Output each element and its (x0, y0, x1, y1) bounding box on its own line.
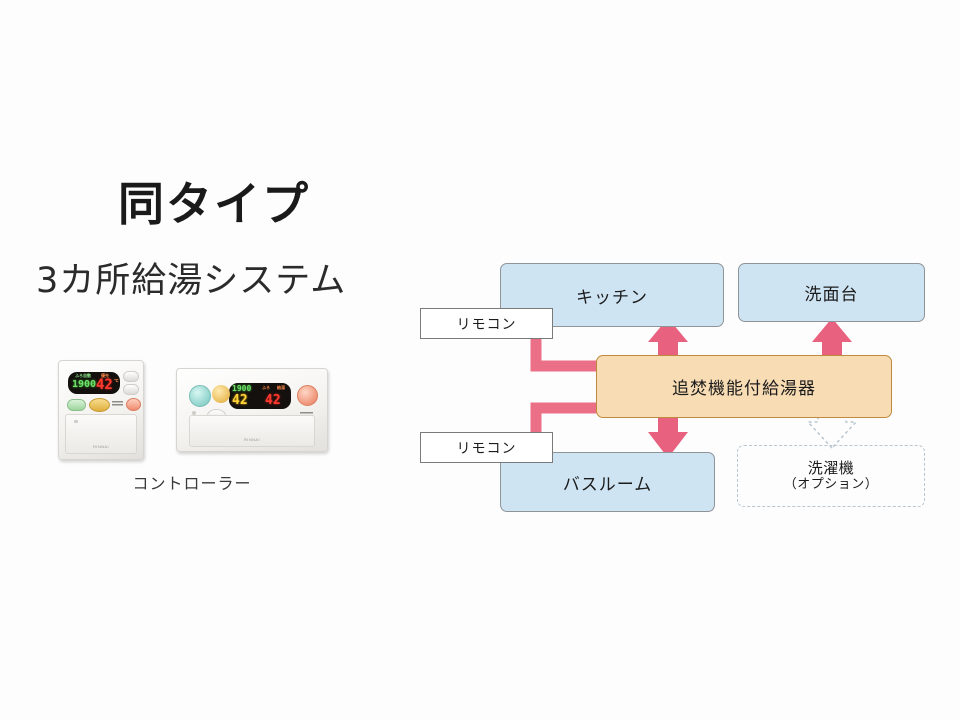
diagram-node-washer-label: 洗濯機 (808, 459, 855, 478)
controller-b-brand: RINNAI (244, 437, 260, 442)
controller-b-hotwater-button (297, 385, 318, 406)
page-subtitle: 3カ所給湯システム (36, 252, 346, 303)
controller-b-label-right: 給湯 (277, 386, 285, 390)
diagram-node-kitchen-label: キッチン (576, 283, 648, 308)
connector-remote-bottom (536, 408, 604, 432)
diagram-node-remote-top-label: リモコン (457, 314, 517, 334)
controller-a-temperature: 42 (96, 378, 113, 392)
controller-b-time: 1900 (232, 385, 251, 393)
diagram-node-remote-bottom-label: リモコン (457, 438, 517, 458)
controller-a-display-mode: ふろ自動 (75, 374, 91, 378)
controller-a-power-button (67, 399, 86, 411)
kitchen-controller-image: 1900 ふろ 給湯 42 42 RINNAI (176, 368, 328, 452)
controller-caption: コントローラー (112, 470, 272, 494)
connector-remote-top (536, 339, 604, 366)
controller-a-led (74, 420, 78, 423)
controller-a-time: 1900 (72, 380, 96, 390)
diagram-node-washer-option[interactable]: 洗濯機 （オプション） (737, 445, 925, 507)
controller-b-power-button (189, 385, 211, 407)
page-title: 同タイプ (118, 168, 310, 234)
controller-a-speaker-grille (112, 401, 123, 407)
controller-b-label-left: ふろ (262, 386, 270, 390)
controller-a-brand: RINNAI (93, 444, 109, 449)
diagram-node-washer-sublabel: （オプション） (784, 477, 879, 493)
diagram-node-remote-top[interactable]: リモコン (420, 308, 553, 339)
controller-b-temperature-right: 42 (265, 394, 281, 407)
controller-b-auto-button (212, 385, 230, 403)
slide-canvas: 同タイプ 3カ所給湯システム ふろ自動 優先 1900 42 ℃ RINNAI … (0, 0, 960, 720)
controller-a-auto-button (89, 398, 110, 412)
diagram-node-washstand[interactable]: 洗面台 (738, 263, 925, 322)
diagram-node-bathroom-label: バスルーム (563, 470, 653, 495)
controller-a-cover: RINNAI (65, 414, 137, 454)
diagram-node-heater-label: 追焚機能付給湯器 (672, 374, 816, 399)
controller-a-down-button (123, 384, 139, 395)
controller-a-display: ふろ自動 優先 1900 42 ℃ (68, 372, 120, 394)
arrow-heater-to-washer (808, 416, 856, 448)
bathroom-controller-image: ふろ自動 優先 1900 42 ℃ RINNAI (58, 360, 144, 460)
controller-a-hotwater-button (126, 398, 141, 411)
controller-b-temperature-left: 42 (232, 394, 248, 407)
controller-a-up-button (123, 371, 139, 382)
diagram-node-heater[interactable]: 追焚機能付給湯器 (596, 355, 892, 418)
diagram-node-washstand-label: 洗面台 (805, 280, 859, 305)
diagram-node-remote-bottom[interactable]: リモコン (420, 432, 553, 463)
controller-b-cover: RINNAI (189, 415, 315, 447)
controller-b-display: 1900 ふろ 給湯 42 42 (229, 383, 291, 409)
controller-a-temp-unit: ℃ (114, 379, 119, 383)
